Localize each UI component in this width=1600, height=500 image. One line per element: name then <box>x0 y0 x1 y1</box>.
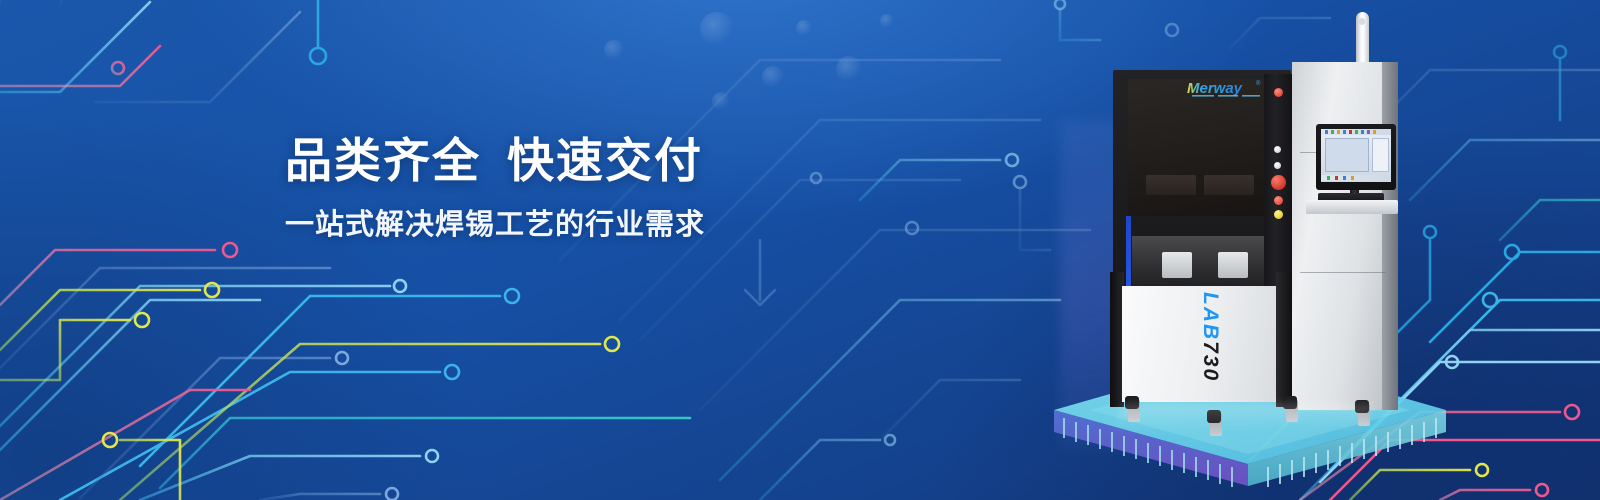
status-lamp-white-2[interactable] <box>1274 162 1281 169</box>
emergency-stop-button[interactable] <box>1271 175 1286 190</box>
status-lamp-red-top[interactable] <box>1274 88 1283 97</box>
software-statusbar <box>1321 175 1391 181</box>
cabinet-right-frame <box>1276 272 1292 407</box>
toolbar-icon <box>1343 130 1346 134</box>
loading-fixture <box>1162 252 1192 278</box>
toolbar-icon <box>1349 130 1352 134</box>
brand-logo: Merway ® <box>1186 78 1270 102</box>
status-lamp-red-low[interactable] <box>1274 196 1283 205</box>
tower-right-edge <box>1382 62 1398 410</box>
door-window <box>1204 175 1254 195</box>
toolbar-icon <box>1337 130 1340 134</box>
page-title: 品类齐全快速交付 <box>285 136 705 187</box>
page-subtitle: 一站式解决焊锡工艺的行业需求 <box>285 201 705 243</box>
svg-text:Merway: Merway <box>1187 80 1243 97</box>
tower-panel-seam <box>1300 272 1386 273</box>
model-number: 730 <box>1199 341 1222 382</box>
svg-text:®: ® <box>1256 80 1261 87</box>
statusbar-icon <box>1351 176 1354 180</box>
banner-text: 品类齐全快速交付 一站式解决焊锡工艺的行业需求 <box>285 136 705 243</box>
toolbar-icon <box>1367 130 1370 134</box>
statusbar-icon <box>1327 176 1330 180</box>
headline-part-2: 快速交付 <box>507 134 703 187</box>
monitor-data-panel <box>1372 138 1389 172</box>
statusbar-icon <box>1343 176 1346 180</box>
model-prefix: LAB <box>1199 292 1222 341</box>
machine-right-tower <box>1292 62 1396 410</box>
statusbar-icon <box>1335 176 1338 180</box>
toolbar-icon <box>1373 130 1376 134</box>
product-banner: 品类齐全快速交付 一站式解决焊锡工艺的行业需求 <box>0 0 1600 500</box>
monitor-screen <box>1321 129 1391 182</box>
floor-reflection <box>1113 404 1374 430</box>
door-window <box>1146 175 1196 195</box>
loading-fixture <box>1218 252 1248 278</box>
toolbar-icon <box>1331 130 1334 134</box>
status-lamp-yellow[interactable] <box>1274 210 1283 219</box>
toolbar-icon <box>1325 130 1328 134</box>
toolbar-icon <box>1355 130 1358 134</box>
toolbar-icon <box>1361 130 1364 134</box>
keyboard-tray <box>1306 200 1398 214</box>
status-lamp-white-1[interactable] <box>1274 146 1281 153</box>
model-label: LAB730 <box>1198 292 1222 382</box>
monitor-work-area <box>1325 138 1369 172</box>
headline-part-1: 品类齐全 <box>285 134 481 187</box>
accent-stripe <box>1126 216 1131 290</box>
